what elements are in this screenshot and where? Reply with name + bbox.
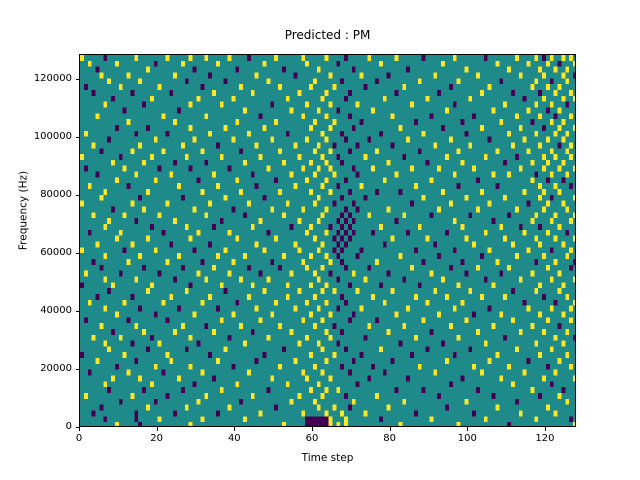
x-tick-mark <box>467 427 468 431</box>
x-tick-label: 80 <box>360 433 420 445</box>
y-tick-label: 40000 <box>8 305 72 317</box>
y-tick-label: 120000 <box>8 73 72 85</box>
y-tick-mark <box>76 427 80 428</box>
y-tick-mark <box>76 195 80 196</box>
x-tick-label: 120 <box>515 433 575 445</box>
y-tick-mark <box>76 79 80 80</box>
x-tick-mark <box>79 427 80 431</box>
x-axis-label: Time step <box>79 452 576 465</box>
heatmap-image <box>80 55 576 427</box>
x-tick-label: 40 <box>204 433 264 445</box>
y-tick-label: 0 <box>8 421 72 433</box>
x-tick-label: 20 <box>127 433 187 445</box>
x-tick-label: 60 <box>282 433 342 445</box>
x-tick-mark <box>312 427 313 431</box>
y-tick-label: 20000 <box>8 363 72 375</box>
x-tick-mark <box>390 427 391 431</box>
y-axis-label: Frequency (Hz) <box>18 151 31 271</box>
figure-canvas: Predicted : PM 020406080100120 020000400… <box>0 0 640 480</box>
y-tick-mark <box>76 311 80 312</box>
x-tick-label: 100 <box>437 433 497 445</box>
y-tick-mark <box>76 253 80 254</box>
y-tick-mark <box>76 137 80 138</box>
page-title: Predicted : PM <box>79 28 576 42</box>
y-tick-label: 100000 <box>8 131 72 143</box>
x-tick-label: 0 <box>49 433 109 445</box>
x-tick-mark <box>545 427 546 431</box>
x-tick-mark <box>234 427 235 431</box>
x-tick-mark <box>157 427 158 431</box>
y-tick-mark <box>76 369 80 370</box>
heatmap-plot-area <box>79 54 576 427</box>
